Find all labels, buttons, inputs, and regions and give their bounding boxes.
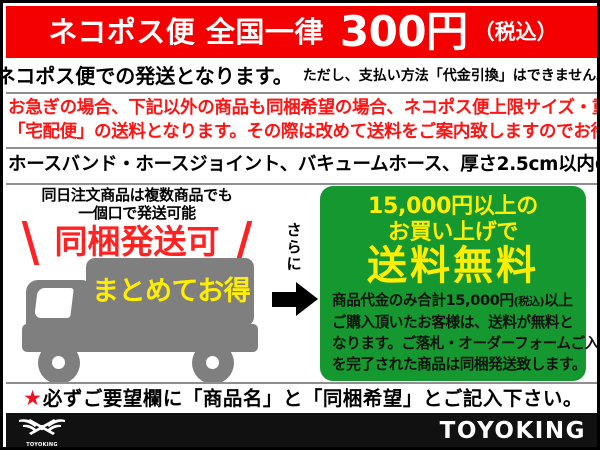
free-shipping-panel: 15,000円以上の お買い上げで 送料無料 商品代金のみ合計15,000円(税… xyxy=(320,186,586,381)
eligible-products-row: ホースバンド・ホースジョイント、バキュームホース、厚さ2.5cm以内の商品 xyxy=(8,150,600,181)
divider-line xyxy=(6,147,600,149)
arrow-shaft xyxy=(272,292,298,307)
truck-front-hub xyxy=(52,356,65,369)
divider-line xyxy=(6,183,600,185)
header-tax-note: （税込） xyxy=(474,22,558,43)
brand-name: TOYOKING xyxy=(440,420,586,443)
free-shipping-condition: お買い上げで xyxy=(320,222,586,244)
combined-shipping-block: 同日注文商品は複数商品でも 一個口で発送可能 同梱発送可 まとめてお得 xyxy=(6,186,268,381)
promotional-banner: ネコポス便 全国一律 300円 （税込） ネコポス便での発送となります。 ただし… xyxy=(0,0,600,450)
request-field-text: 必ずご要望欄に「商品名」と「同梱希望」とご記入下さい。 xyxy=(43,389,583,409)
footer-bar: TOYOKING TOYOKING xyxy=(6,413,600,450)
header-price-bar: ネコポス便 全国一律 300円 （税込） xyxy=(6,6,600,58)
combine-headline-wrap: 同梱発送可 xyxy=(6,222,268,262)
middle-section: 同日注文商品は複数商品でも 一個口で発送可能 同梱発送可 まとめてお得 xyxy=(6,186,600,381)
arrow-head xyxy=(296,282,318,316)
combine-lead-line-2: 一個口で発送可能 xyxy=(6,206,268,221)
caution-line-1: お急ぎの場合、下記以外の商品も同梱希望の場合、ネコポス便上限サイズ・重さを超えた… xyxy=(8,96,600,120)
free-shipping-headline: 送料無料 xyxy=(320,246,586,286)
free-shipping-threshold: 15,000円以上の xyxy=(320,196,586,218)
shipping-method-exception: ただし、支払い方法「代金引換」はできません。 xyxy=(303,69,600,83)
star-icon: ★ xyxy=(23,388,42,409)
brand-logo-icon: TOYOKING xyxy=(15,416,69,448)
request-field-note: ★ 必ずご要望欄に「商品名」と「同梱希望」とご記入下さい。 xyxy=(6,384,600,413)
truck-illustration: まとめてお得 xyxy=(14,258,262,376)
truck-window xyxy=(34,288,74,318)
free-shipping-detail-line-4: を完了された商品は同梱発送致します。 xyxy=(332,354,576,375)
header-price-value: 300円 xyxy=(340,11,468,53)
truck-body-label: まとめてお得 xyxy=(92,270,250,314)
truck-rear-hub xyxy=(206,356,219,369)
free-shipping-detail: 商品代金のみ合計15,000円(税込)以上 ご購入頂いたお客様は、送料が無料と … xyxy=(332,290,576,375)
right-arrow-icon xyxy=(272,282,318,316)
shipping-method-main: ネコポス便での発送となります。 xyxy=(0,66,293,86)
free-shipping-detail-line-3: なります。ご落札・オーダーフォームご入力 xyxy=(332,333,576,354)
brand-logo-caption: TOYOKING xyxy=(15,442,69,448)
detail-tax-note: (税込) xyxy=(514,295,544,308)
caution-line-2: 「宅配便」の送料となります。その際は改めて送料をご案内致しますのでお待ちください… xyxy=(8,120,600,144)
eligible-products-text: ホースバンド・ホースジョイント、バキュームホース、厚さ2.5cm以内の商品 xyxy=(8,156,600,175)
free-shipping-detail-line-2: ご購入頂いたお客様は、送料が無料と xyxy=(332,312,576,333)
detail-text-a: 商品代金のみ合計15,000円 xyxy=(332,292,514,309)
brand-emblem-svg xyxy=(15,416,69,442)
connector-label: さらに xyxy=(282,222,306,273)
caution-notice: お急ぎの場合、下記以外の商品も同梱希望の場合、ネコポス便上限サイズ・重さを超えた… xyxy=(8,95,600,145)
free-shipping-detail-line-1: 商品代金のみ合計15,000円(税込)以上 xyxy=(332,290,576,312)
combine-headline: 同梱発送可 xyxy=(6,222,268,262)
header-service-title: ネコポス便 全国一律 xyxy=(48,18,324,47)
detail-text-b: 以上 xyxy=(544,292,572,309)
connector-block: さらに xyxy=(268,186,320,381)
combine-lead-line-1: 同日注文商品は複数商品でも xyxy=(6,188,268,203)
divider-line xyxy=(6,92,600,94)
shipping-method-note: ネコポス便での発送となります。 ただし、支払い方法「代金引換」はできません。 xyxy=(6,59,600,92)
